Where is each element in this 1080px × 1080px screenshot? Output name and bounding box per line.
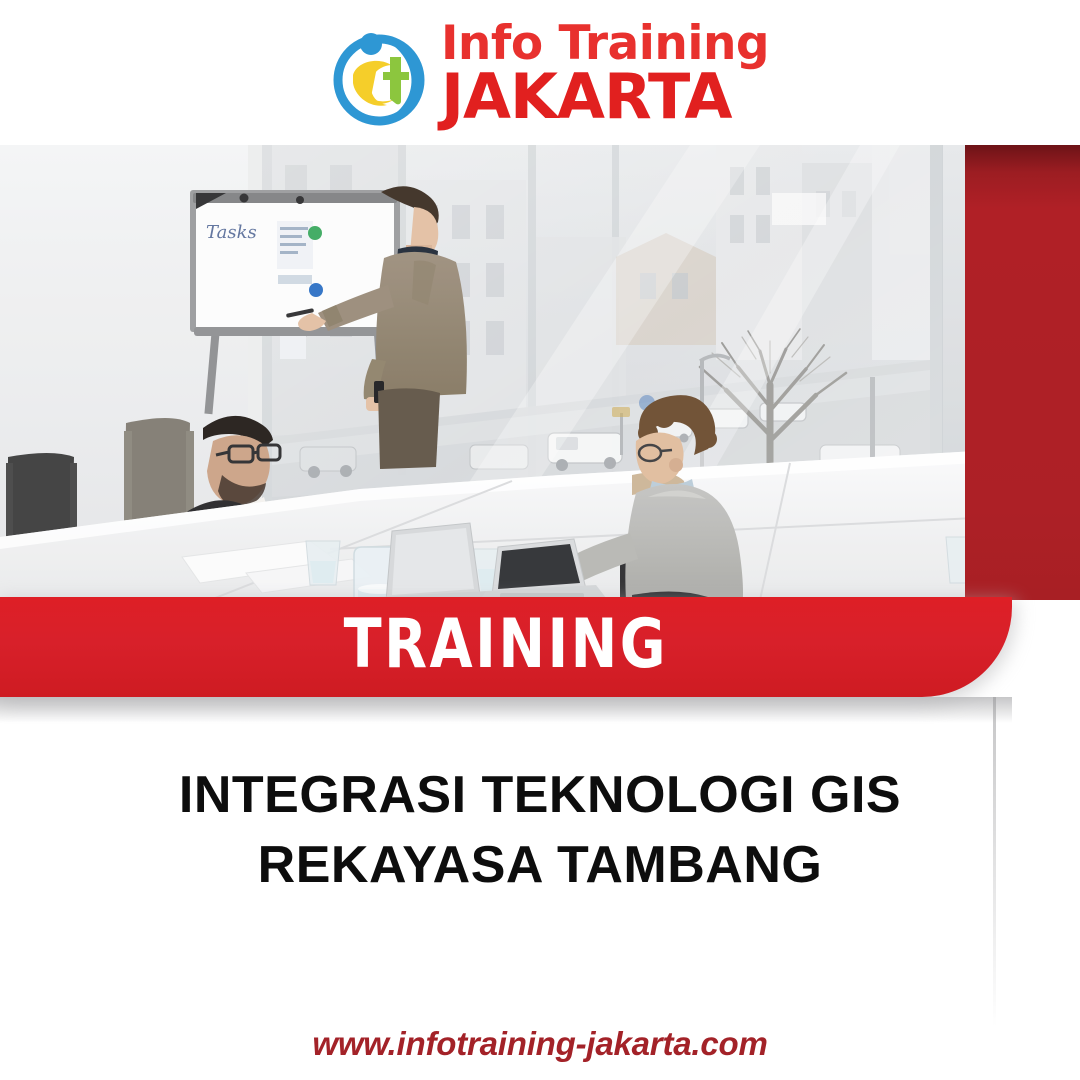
hero-photo-image: Tasks (0, 145, 1080, 600)
hero-photo: Tasks (0, 145, 1080, 600)
website-url[interactable]: www.infotraining-jakarta.com (312, 1025, 767, 1062)
header: Info Training JAKARTA (0, 0, 1080, 145)
course-title-line2: REKAYASA TAMBANG (0, 830, 1080, 900)
brand-logo[interactable]: Info Training JAKARTA (327, 17, 769, 129)
brand-name-line2: JAKARTA (441, 68, 732, 125)
course-title: INTEGRASI TEKNOLOGI GIS REKAYASA TAMBANG (0, 760, 1080, 900)
training-banner-label: TRAINING (344, 611, 668, 683)
info-training-jakarta-logo-icon (327, 17, 439, 129)
training-banner: TRAINING (0, 597, 1012, 697)
brand-wordmark: Info Training JAKARTA (441, 20, 769, 124)
footer: www.infotraining-jakarta.com (0, 1025, 1080, 1063)
course-title-line1: INTEGRASI TEKNOLOGI GIS (0, 760, 1080, 830)
poster-canvas: Info Training JAKARTA (0, 0, 1080, 1080)
photo-right-red-band (965, 145, 1080, 600)
